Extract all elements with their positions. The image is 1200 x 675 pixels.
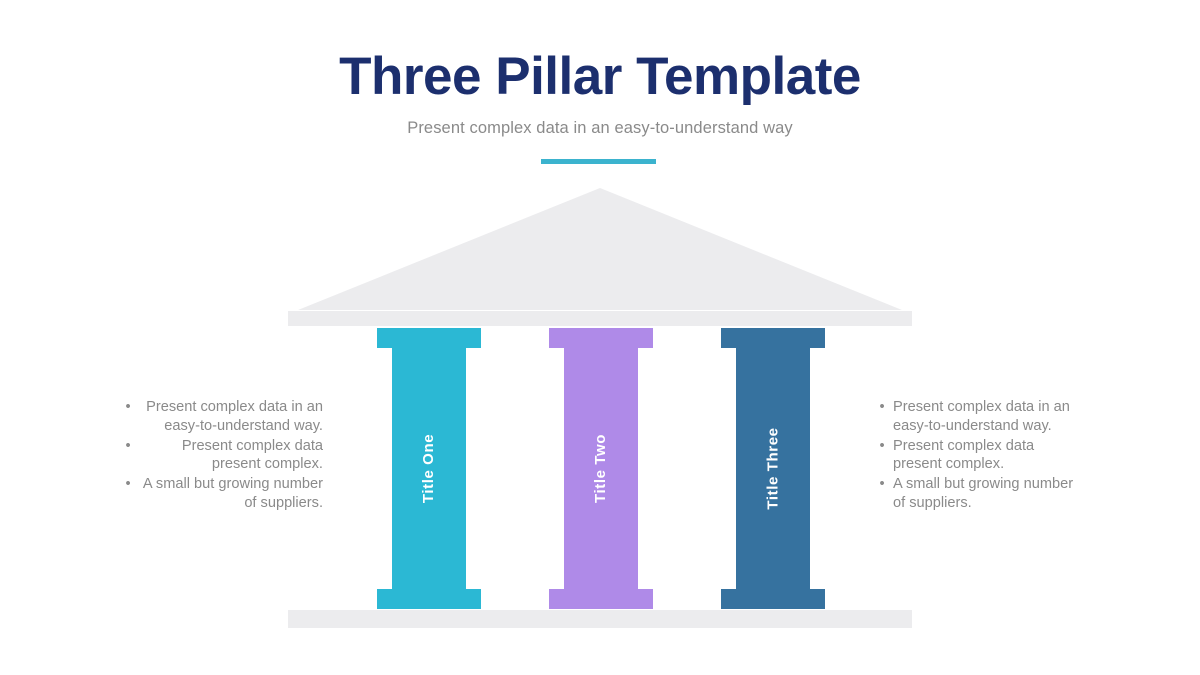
pillar-3[interactable]: Title Three <box>721 328 825 609</box>
bullet-text: Present complex data in an easy-to-under… <box>893 399 1070 434</box>
bullet-item: •Present complex data present complex. <box>123 437 323 475</box>
bullet-text: A small but growing number of suppliers. <box>143 476 323 511</box>
bullet-item: •Present complex data in an easy-to-unde… <box>877 398 1077 436</box>
pillar-1-shaft: Title One <box>392 328 466 609</box>
pillar-1[interactable]: Title One <box>377 328 481 609</box>
roof-pediment-triangle <box>298 188 902 310</box>
pillar-1-label: Title One <box>421 434 438 503</box>
bullet-list-right: •Present complex data in an easy-to-unde… <box>877 398 1077 514</box>
temple-graphic: Title One Title Two Title Three <box>0 0 1200 675</box>
bullet-dot-icon: • <box>123 475 133 494</box>
slide-canvas: Three Pillar Template Present complex da… <box>0 0 1200 675</box>
bullet-dot-icon: • <box>877 398 887 417</box>
bullet-text: A small but growing number of suppliers. <box>893 476 1073 511</box>
bullet-item: •A small but growing number of suppliers… <box>123 475 323 513</box>
pillar-3-base <box>721 589 825 609</box>
bullet-list-left-items: •Present complex data in an easy-to-unde… <box>123 398 323 513</box>
pillar-3-label: Title Three <box>765 427 782 509</box>
pillar-3-capital <box>721 328 825 348</box>
bullet-item: •A small but growing number of suppliers… <box>877 475 1077 513</box>
bullet-text: Present complex data in an easy-to-under… <box>146 399 323 434</box>
stylobate-base-bar <box>288 610 912 628</box>
pillar-2-shaft: Title Two <box>564 328 638 609</box>
pillar-1-base <box>377 589 481 609</box>
pillar-2-base <box>549 589 653 609</box>
pillar-2-label: Title Two <box>592 434 609 503</box>
bullet-item: •Present complex data in an easy-to-unde… <box>123 398 323 436</box>
bullet-dot-icon: • <box>877 437 887 456</box>
bullet-dot-icon: • <box>123 398 133 417</box>
bullet-list-left: •Present complex data in an easy-to-unde… <box>123 398 323 514</box>
bullet-dot-icon: • <box>123 437 133 456</box>
pillar-3-shaft: Title Three <box>736 328 810 609</box>
pillar-2-capital <box>549 328 653 348</box>
bullet-text: Present complex data present complex. <box>893 438 1034 473</box>
bullet-text: Present complex data present complex. <box>182 438 323 473</box>
pillar-2[interactable]: Title Two <box>549 328 653 609</box>
bullet-list-right-items: •Present complex data in an easy-to-unde… <box>877 398 1077 513</box>
bullet-dot-icon: • <box>877 475 887 494</box>
entablature-bar <box>288 311 912 326</box>
pillar-1-capital <box>377 328 481 348</box>
bullet-item: •Present complex data present complex. <box>877 437 1077 475</box>
